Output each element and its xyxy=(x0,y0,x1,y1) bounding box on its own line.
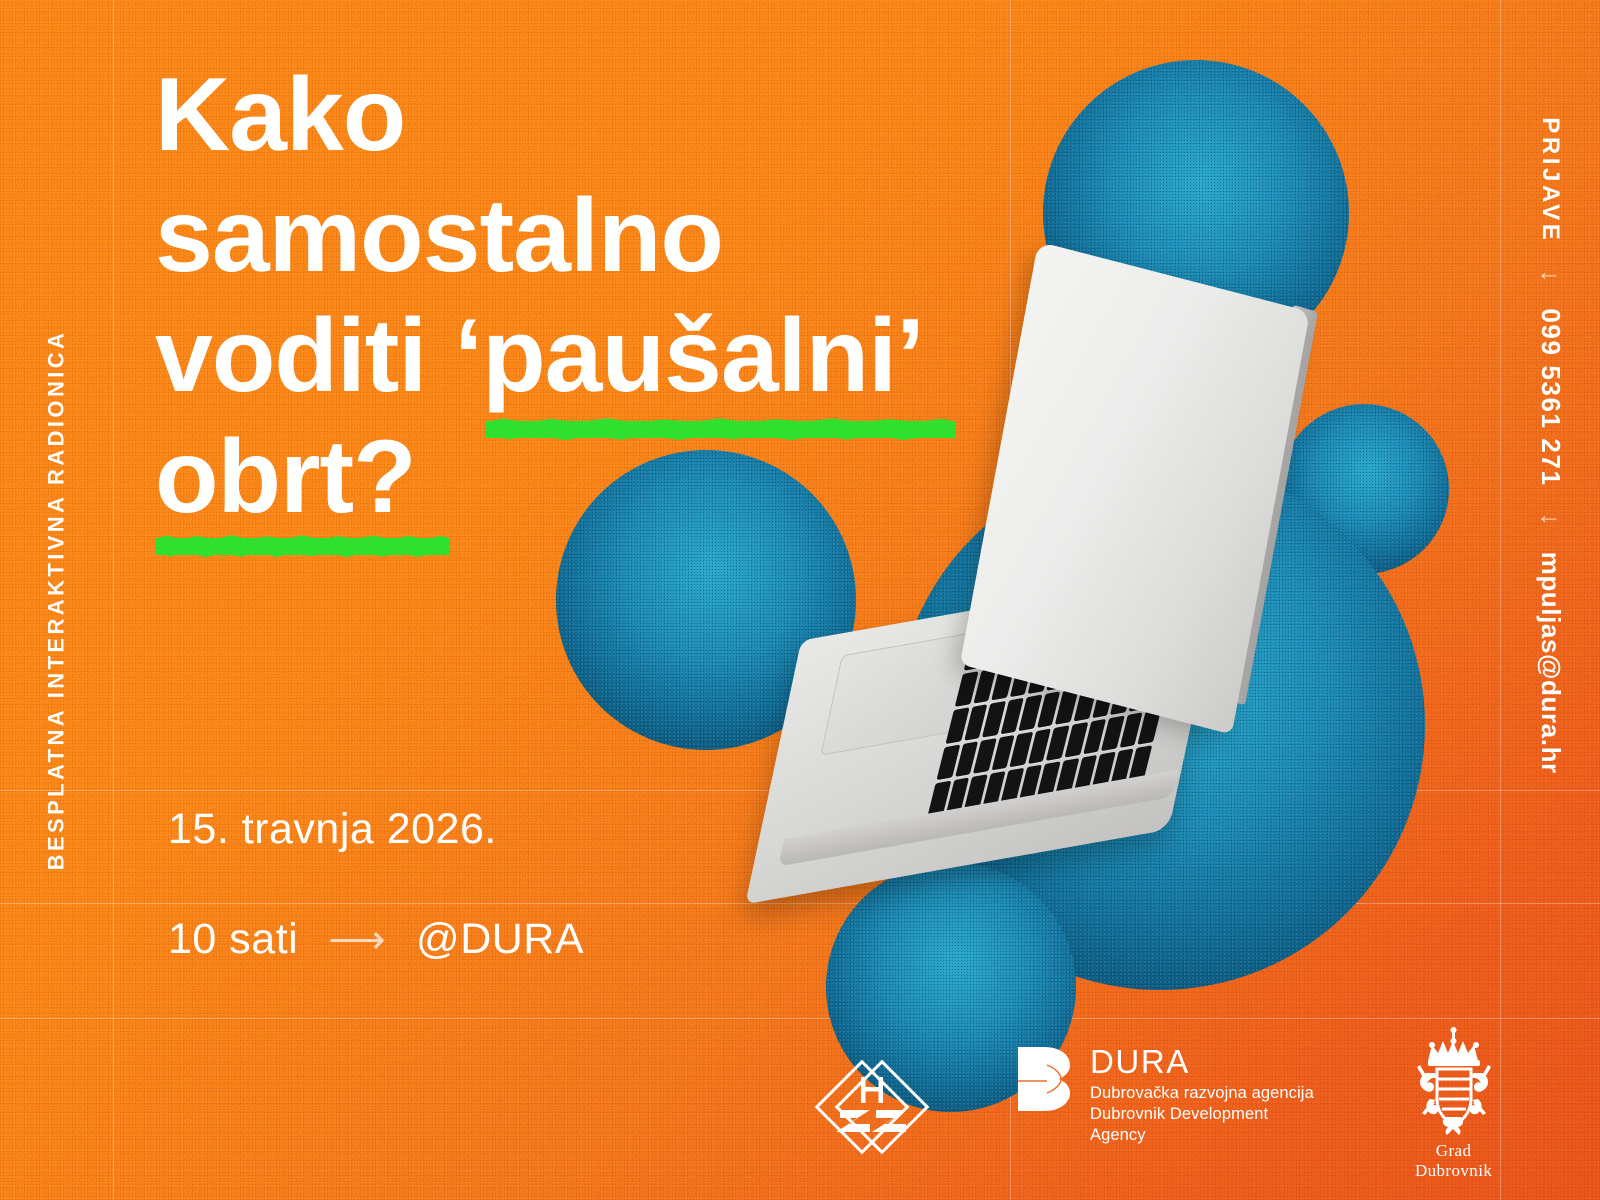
event-venue: @DURA xyxy=(416,915,584,964)
poster-canvas: BESPLATNA INTERAKTIVNA RADIONICA PRIJAVE… xyxy=(0,0,1600,1200)
dura-mark-icon xyxy=(1016,1045,1072,1119)
hzz-logo xyxy=(810,1055,934,1163)
headline-line-1: Kako xyxy=(155,55,1035,176)
registration-email[interactable]: mpuljas@dura.hr xyxy=(1535,552,1566,774)
dura-name: DURA xyxy=(1090,1045,1315,1078)
workshop-kicker-label: BESPLATNA INTERAKTIVNA RADIONICA xyxy=(44,330,70,871)
arrow-down-icon-2: ↓ xyxy=(1535,513,1566,526)
headline-line-3: voditi ‘paušalni’ xyxy=(155,296,1035,417)
page-title: Kako samostalno voditi ‘paušalni’ obrt? xyxy=(155,55,1035,538)
headline-line-2: samostalno xyxy=(155,176,1035,297)
dura-subtitle-en: Dubrovnik Development Agency xyxy=(1090,1104,1315,1146)
highlight-underline-obrt xyxy=(155,538,450,555)
highlight-underline-pausalni xyxy=(485,421,955,438)
event-time: 10 sati xyxy=(168,915,298,964)
registration-phone[interactable]: 099 5361 271 xyxy=(1535,308,1566,486)
dura-logo: DURA Dubrovačka razvojna agencija Dubrov… xyxy=(1016,1045,1315,1146)
right-vertical-rail: PRIJAVE ↓ 099 5361 271 ↓ mpuljas@dura.hr xyxy=(1500,0,1600,1200)
arrow-right-icon: ⟶ xyxy=(328,917,386,963)
dura-subtitle-hr: Dubrovačka razvojna agencija xyxy=(1090,1083,1315,1104)
grad-dubrovnik-name: Grad Dubrovnik xyxy=(1397,1141,1510,1181)
event-date: 15. travnja 2026. xyxy=(168,805,497,854)
grad-dubrovnik-logo: Grad Dubrovnik xyxy=(1397,1025,1510,1181)
left-vertical-rail: BESPLATNA INTERAKTIVNA RADIONICA xyxy=(0,0,113,1200)
arrow-down-icon-1: ↓ xyxy=(1535,269,1566,282)
registration-label: PRIJAVE xyxy=(1536,117,1564,243)
logo-row: DURA Dubrovačka razvojna agencija Dubrov… xyxy=(810,1035,1510,1175)
event-time-venue: 10 sati ⟶ @DURA xyxy=(168,915,584,964)
